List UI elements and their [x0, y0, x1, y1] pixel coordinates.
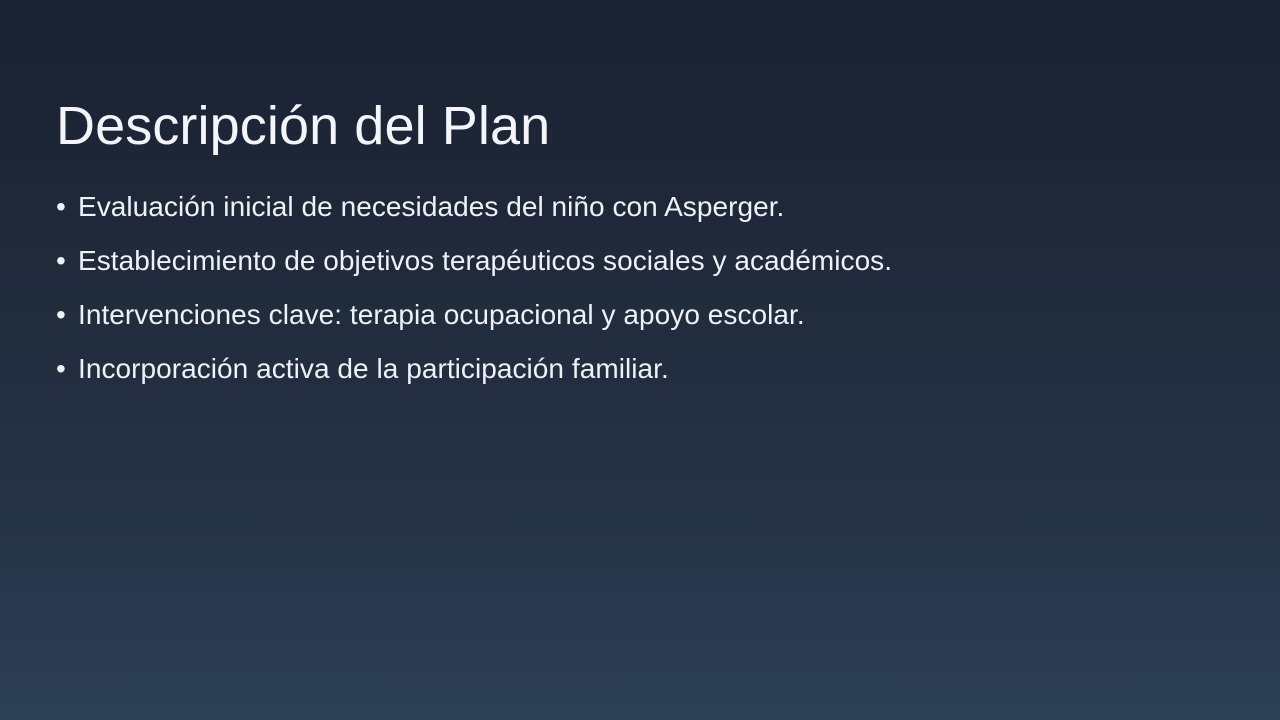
list-item: • Establecimiento de objetivos terapéuti…: [56, 240, 1236, 294]
list-item-label: Establecimiento de objetivos terapéutico…: [78, 240, 892, 282]
list-item: • Evaluación inicial de necesidades del …: [56, 186, 1236, 240]
bullet-point-icon: •: [56, 294, 78, 336]
bullet-point-icon: •: [56, 348, 78, 390]
bullet-point-icon: •: [56, 186, 78, 228]
list-item-label: Incorporación activa de la participación…: [78, 348, 669, 390]
bullet-point-icon: •: [56, 240, 78, 282]
list-item-label: Intervenciones clave: terapia ocupaciona…: [78, 294, 805, 336]
presentation-slide: Descripción del Plan • Evaluación inicia…: [0, 0, 1280, 720]
list-item-label: Evaluación inicial de necesidades del ni…: [78, 186, 784, 228]
list-item: • Incorporación activa de la participaci…: [56, 348, 1236, 402]
slide-title: Descripción del Plan: [56, 92, 1224, 160]
bullet-list: • Evaluación inicial de necesidades del …: [56, 186, 1236, 402]
list-item: • Intervenciones clave: terapia ocupacio…: [56, 294, 1236, 348]
